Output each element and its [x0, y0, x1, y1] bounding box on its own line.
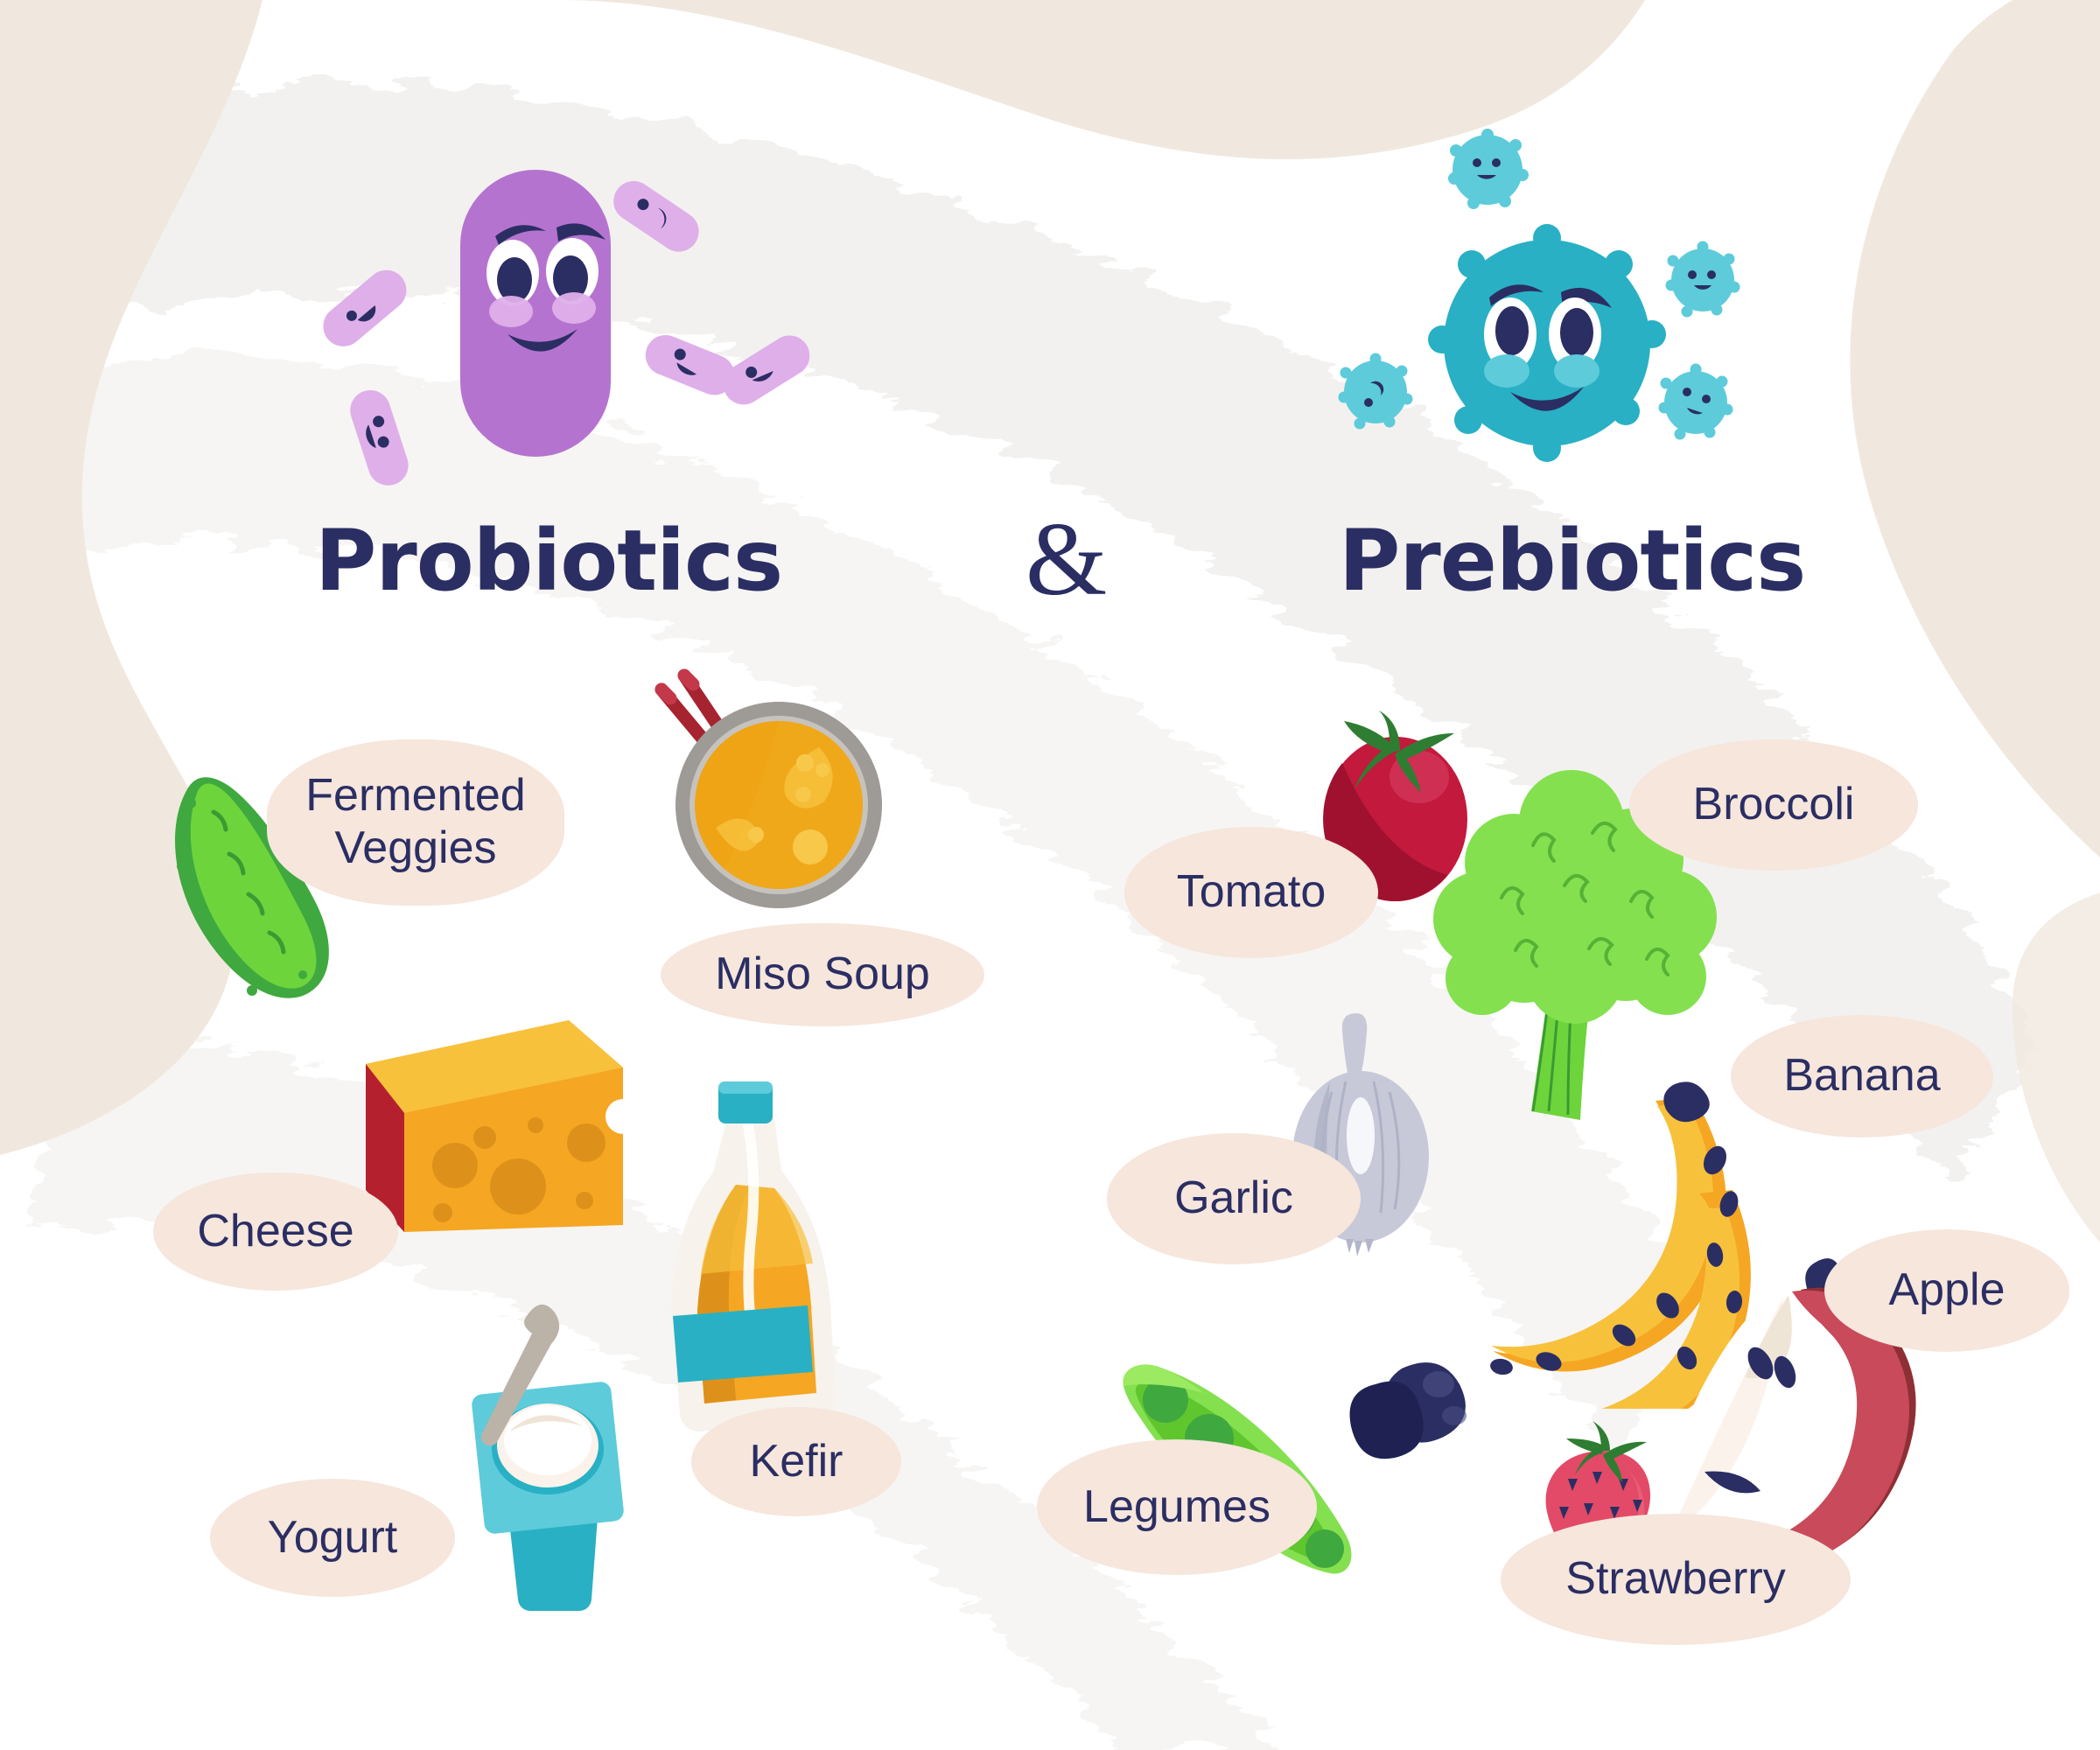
- label-line-2: Veggies: [334, 822, 496, 875]
- label-strawberry[interactable]: Strawberry: [1501, 1514, 1851, 1645]
- bacteria-small-1: [315, 262, 415, 354]
- label-legumes[interactable]: Legumes: [1037, 1439, 1317, 1575]
- microbe-large: [1428, 224, 1666, 462]
- spoon: [481, 1305, 559, 1446]
- label-cheese[interactable]: Cheese: [153, 1172, 398, 1291]
- blob-top-left: [0, 0, 262, 1155]
- chopsticks: [661, 675, 763, 796]
- label-fermented-veggies[interactable]: Fermented Veggies: [267, 739, 564, 906]
- microbe-small-bottom-right: [1659, 364, 1733, 440]
- label-line-1: Fermented: [305, 770, 525, 822]
- heading-ampersand: &: [1025, 499, 1106, 619]
- bacteria-small-4: [640, 329, 741, 401]
- heading-probiotics: Probiotics: [315, 512, 782, 610]
- yogurt-cup-icon: [411, 1277, 682, 1627]
- banana-bunch-icon: [1452, 1076, 1820, 1409]
- label-miso-soup[interactable]: Miso Soup: [661, 923, 984, 1026]
- kefir-bottle-icon: [652, 1050, 871, 1470]
- label-broccoli[interactable]: Broccoli: [1629, 739, 1918, 871]
- microbe-small-top: [1448, 129, 1529, 209]
- blob-top-center: [560, 0, 1645, 159]
- microbe-small-bottom-left: [1339, 353, 1413, 430]
- bacteria-small-3: [605, 173, 706, 260]
- label-banana[interactable]: Banana: [1731, 1015, 1993, 1137]
- bacteria-small-5: [716, 328, 817, 412]
- label-yogurt[interactable]: Yogurt: [210, 1479, 455, 1597]
- label-apple[interactable]: Apple: [1824, 1229, 2069, 1352]
- bacteria-small-2: [345, 385, 413, 491]
- heading-prebiotics: Prebiotics: [1339, 512, 1805, 610]
- probiotic-bacteria-mascot: [289, 149, 849, 499]
- blob-top-right: [1850, 0, 2100, 857]
- label-garlic[interactable]: Garlic: [1107, 1133, 1361, 1264]
- label-kefir[interactable]: Kefir: [691, 1407, 901, 1516]
- infographic-canvas: Probiotics & Prebiotics: [0, 0, 2100, 1750]
- blob-right-edge: [2012, 892, 2100, 1242]
- prebiotic-microbe-mascot: [1330, 114, 1785, 481]
- label-tomato[interactable]: Tomato: [1124, 827, 1378, 958]
- microbe-small-right: [1666, 241, 1740, 318]
- bacteria-large: [460, 170, 611, 457]
- miso-soup-bowl-icon: [647, 656, 901, 919]
- beans: [1350, 1362, 1466, 1459]
